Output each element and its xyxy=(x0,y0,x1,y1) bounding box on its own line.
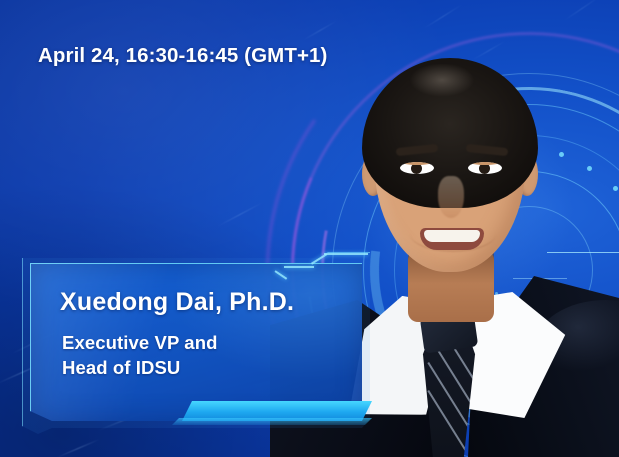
webinar-speaker-banner: April 24, 16:30-16:45 (GMT+1) Xuedong Da… xyxy=(0,0,619,457)
speaker-role-line-2: Head of IDSU xyxy=(62,357,180,379)
speaker-name: Xuedong Dai, Ph.D. xyxy=(60,288,294,317)
card-corner-notch xyxy=(284,266,314,268)
card-accent-bar-secondary xyxy=(172,418,372,425)
event-datetime: April 24, 16:30-16:45 (GMT+1) xyxy=(38,44,327,68)
card-corner-notch xyxy=(324,253,368,255)
nose xyxy=(438,176,464,218)
eye-left xyxy=(400,162,434,174)
speaker-name-card: Xuedong Dai, Ph.D. Executive VP and Head… xyxy=(22,252,370,434)
speaker-role-line-1: Executive VP and xyxy=(62,332,218,354)
mouth xyxy=(420,228,484,250)
eye-right xyxy=(468,162,502,174)
